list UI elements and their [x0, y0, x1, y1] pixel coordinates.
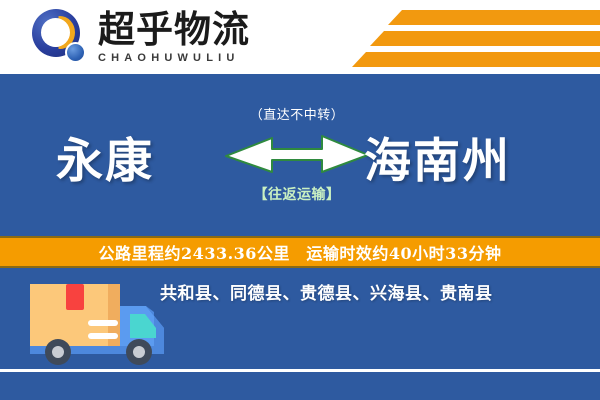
destination-city: 海南州: [364, 122, 511, 191]
logo-dot-shape: [65, 42, 86, 63]
route-note-bottom: 【往返运输】: [222, 184, 372, 204]
info-bar: 公路里程约2433.36公里 运输时效约40小时33分钟: [0, 236, 600, 268]
brand-name-cn: 超乎物流: [98, 8, 278, 50]
route-middle-block: （直达不中转） 【往返运输】: [222, 104, 372, 212]
road-line: [0, 369, 600, 372]
brand-name-en: CHAOHUWULIU: [98, 52, 278, 64]
info-bar-text: 公路里程约2433.36公里 运输时效约40小时33分钟: [99, 240, 502, 264]
stripe-1: [388, 10, 600, 25]
brand-text-block: 超乎物流 CHAOHUWULIU: [98, 8, 278, 64]
route-row: 永康 （直达不中转） 【往返运输】 海南州: [0, 104, 600, 212]
delivery-truck-icon: [26, 276, 172, 372]
route-note-top: （直达不中转）: [222, 104, 372, 123]
double-headed-arrow-icon: [224, 130, 370, 178]
origin-city: 永康: [56, 122, 154, 191]
circle-crescent-logo-icon: [32, 9, 90, 67]
coverage-counties: 共和县、同德县、贵德县、兴海县、贵南县: [160, 279, 580, 304]
banner-header: 超乎物流 CHAOHUWULIU: [0, 0, 600, 74]
decorative-stripes: [330, 0, 600, 74]
stripe-2: [370, 31, 600, 46]
stripe-3: [352, 52, 600, 67]
logistics-route-banner: 超乎物流 CHAOHUWULIU 永康 （直达不中转） 【往返运输】 海南州 公…: [0, 0, 600, 400]
logo-crescent-cutout: [41, 18, 70, 47]
